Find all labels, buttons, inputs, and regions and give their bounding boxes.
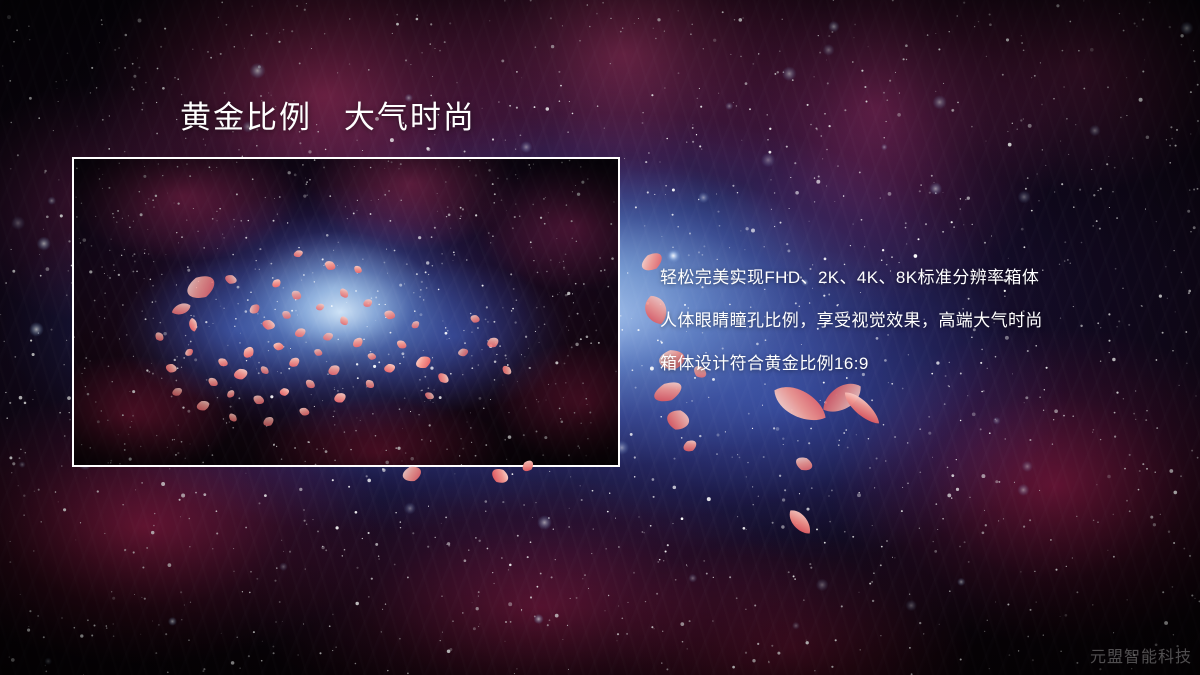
page-title: 黄金比例 大气时尚 [180,100,476,136]
frame-vignette [74,159,618,465]
body-line-1: 轻松完美实现FHD、2K、4K、8K标准分辨率箱体 [660,256,1180,299]
frame-image [74,159,618,465]
nebula-photo-frame [72,157,620,467]
body-line-3: 箱体设计符合黄金比例16:9 [660,342,1180,385]
body-text-block: 轻松完美实现FHD、2K、4K、8K标准分辨率箱体 人体眼睛瞳孔比例，享受视觉效… [660,256,1180,385]
slide-canvas: 黄金比例 大气时尚 [0,0,1200,675]
watermark-label: 元盟智能科技 [1090,643,1192,667]
body-line-2: 人体眼睛瞳孔比例，享受视觉效果，高端大气时尚 [660,299,1180,342]
